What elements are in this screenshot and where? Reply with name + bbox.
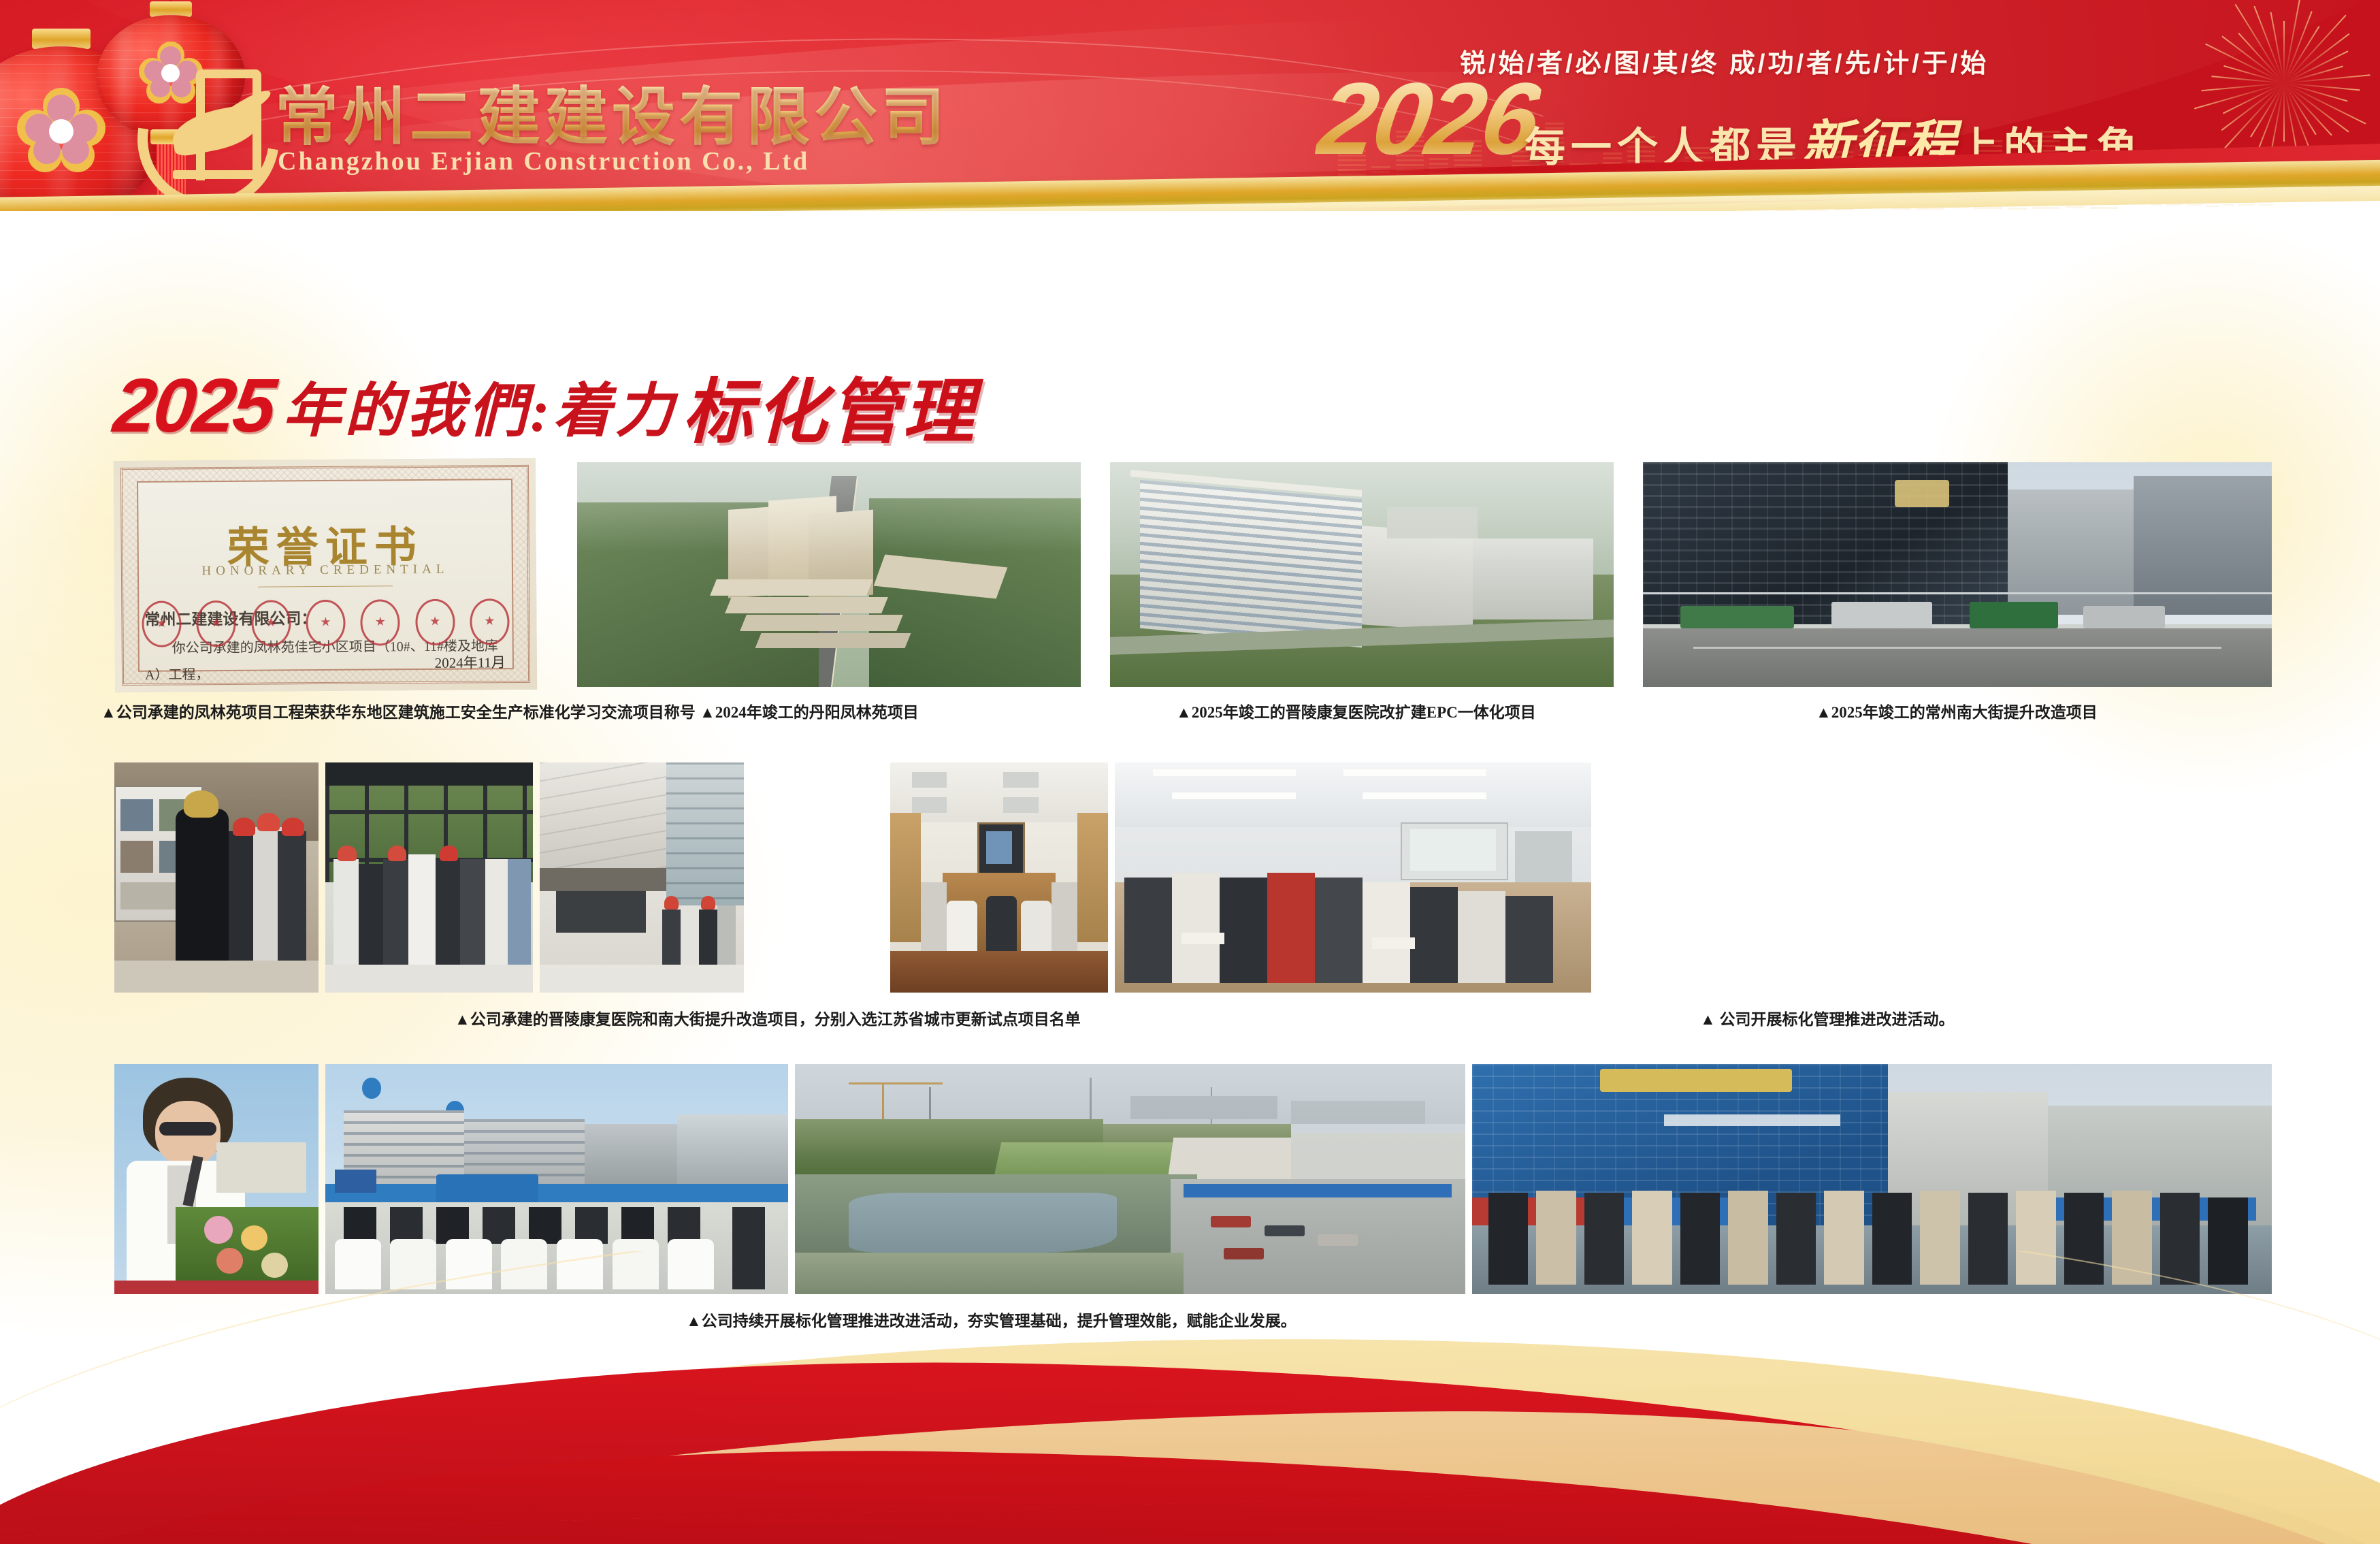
seal-icon: [142, 600, 181, 647]
company-logo-icon: [133, 63, 270, 196]
caption-row2-left: ▲公司承建的晋陵康复医院和南大街提升改造项目，分别入选江苏省城市更新试点项目名单: [455, 1006, 1081, 1029]
content-area: 2025年的我們:着力标化管理 荣誉证书 HONORARY CREDENTIAL…: [0, 225, 2380, 1314]
company-name-cn: 常州二建建设有限公司: [275, 65, 949, 157]
certificate-date: 2024年11月: [435, 652, 506, 673]
caption-row1-item3: ▲2025年竣工的常州南大街提升改造项目: [1816, 699, 2098, 722]
photo-site-inspection-lobby[interactable]: [325, 762, 533, 993]
seal-icon: [306, 600, 345, 646]
caption-row1-item0: ▲公司承建的凤林苑项目工程荣获华东地区建筑施工安全生产标准化学习交流项目称号: [101, 699, 696, 722]
certificate-subtitle: HONORARY CREDENTIAL: [114, 562, 536, 579]
certificate-line-3: 被评为“华东地区建筑施工安全生产标准化学习交流项目”。: [145, 692, 498, 692]
header-banner: 常州二建建设有限公司 Changzhou Erjian Construction…: [0, 0, 2380, 211]
photo-grid: 荣誉证书 HONORARY CREDENTIAL 常州二建建设有限公司： 你公司…: [114, 460, 2272, 1336]
photo-conference-room-meeting[interactable]: [890, 762, 1108, 993]
seal-icon: [197, 600, 236, 647]
seal-icon: [361, 599, 400, 645]
bottom-wave-decoration: [0, 1251, 2380, 1544]
seal-icon: [415, 599, 455, 645]
poster-root: 常州二建建设有限公司 Changzhou Erjian Construction…: [0, 0, 2380, 1544]
caption-row1-item2: ▲2025年竣工的晋陵康复医院改扩建EPC一体化项目: [1176, 699, 1536, 722]
certificate-seal-row: [142, 598, 509, 647]
caption-row1-item1: ▲2024年竣工的丹阳凤林苑项目: [700, 699, 919, 722]
photo-row-1: 荣誉证书 HONORARY CREDENTIAL 常州二建建设有限公司： 你公司…: [114, 460, 2272, 752]
header-year: 2026: [1311, 60, 1546, 178]
page-title-mid: 年的我們:着力: [282, 363, 677, 448]
photo-site-inspection-atrium[interactable]: [540, 762, 744, 993]
seal-icon: [251, 600, 291, 646]
photo-nandajie-street[interactable]: [1643, 462, 2272, 687]
photo-site-inspection-boards[interactable]: [114, 762, 319, 993]
caption-row2-right: ▲ 公司开展标化管理推进改进活动。: [1700, 1006, 1955, 1029]
page-title: 2025年的我們:着力标化管理: [114, 354, 977, 443]
photo-row-2: ▲公司承建的晋陵康复医院和南大街提升改造项目，分别入选江苏省城市更新试点项目名单…: [114, 762, 2272, 1052]
photo-training-room-meeting[interactable]: [1115, 762, 1591, 993]
plum-blossom-icon: [17, 88, 105, 176]
page-title-emphasis: 标化管理: [683, 354, 977, 457]
page-title-year: 2025: [110, 361, 278, 449]
photo-fenglinyuan-aerial[interactable]: [577, 462, 1081, 687]
seal-icon: [470, 598, 509, 645]
photo-jinling-hospital[interactable]: [1110, 462, 1614, 687]
photo-honorary-certificate[interactable]: 荣誉证书 HONORARY CREDENTIAL 常州二建建设有限公司： 你公司…: [114, 458, 537, 692]
company-name-en: Changzhou Erjian Construction Co., Ltd: [278, 146, 809, 176]
